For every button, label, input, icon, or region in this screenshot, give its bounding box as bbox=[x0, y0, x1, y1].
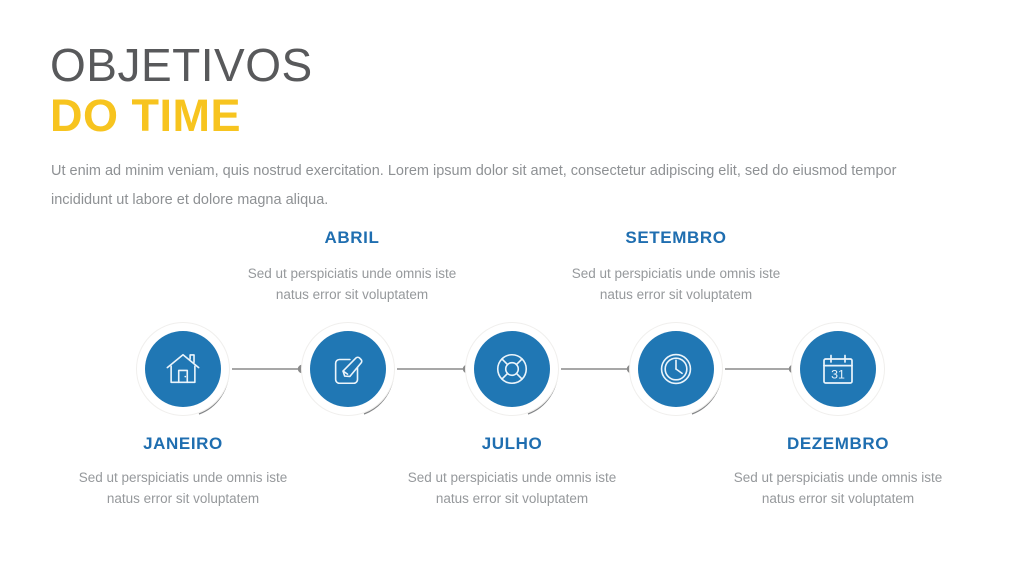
slide-canvas: OBJETIVOS DO TIME Ut enim ad minim venia… bbox=[0, 0, 1024, 576]
lifebuoy-icon bbox=[493, 350, 531, 388]
caption-julho: JULHO Sed ut perspiciatis unde omnis ist… bbox=[397, 434, 627, 510]
timeline-node-dezembro[interactable]: 31 bbox=[792, 323, 884, 415]
node-icon-disc bbox=[474, 331, 550, 407]
calendar-31-icon: 31 bbox=[818, 349, 858, 389]
node-icon-disc bbox=[638, 331, 714, 407]
timeline-node-julho[interactable] bbox=[466, 323, 558, 415]
month-description-dezembro: Sed ut perspiciatis unde omnis iste natu… bbox=[723, 468, 953, 510]
caption-dezembro: DEZEMBRO Sed ut perspiciatis unde omnis … bbox=[723, 434, 953, 510]
calendar-day-number: 31 bbox=[831, 368, 845, 382]
month-description-abril: Sed ut perspiciatis unde omnis iste natu… bbox=[237, 264, 467, 306]
node-icon-disc bbox=[145, 331, 221, 407]
timeline-node-janeiro[interactable] bbox=[137, 323, 229, 415]
edit-pencil-icon bbox=[329, 350, 367, 388]
caption-setembro: SETEMBRO Sed ut perspiciatis unde omnis … bbox=[561, 228, 791, 306]
month-label-janeiro: JANEIRO bbox=[68, 434, 298, 454]
month-label-dezembro: DEZEMBRO bbox=[723, 434, 953, 454]
caption-abril: ABRIL Sed ut perspiciatis unde omnis ist… bbox=[237, 228, 467, 306]
month-label-julho: JULHO bbox=[397, 434, 627, 454]
month-label-setembro: SETEMBRO bbox=[561, 228, 791, 248]
month-description-setembro: Sed ut perspiciatis unde omnis iste natu… bbox=[561, 264, 791, 306]
timeline-node-setembro[interactable] bbox=[630, 323, 722, 415]
caption-janeiro: JANEIRO Sed ut perspiciatis unde omnis i… bbox=[68, 434, 298, 510]
node-icon-disc: 31 bbox=[800, 331, 876, 407]
timeline: 31 ABRIL Sed ut perspiciatis unde omnis … bbox=[0, 0, 1024, 576]
month-description-julho: Sed ut perspiciatis unde omnis iste natu… bbox=[397, 468, 627, 510]
timeline-node-abril[interactable] bbox=[302, 323, 394, 415]
clock-icon bbox=[657, 350, 695, 388]
month-description-janeiro: Sed ut perspiciatis unde omnis iste natu… bbox=[68, 468, 298, 510]
house-icon bbox=[164, 350, 202, 388]
month-label-abril: ABRIL bbox=[237, 228, 467, 248]
node-icon-disc bbox=[310, 331, 386, 407]
